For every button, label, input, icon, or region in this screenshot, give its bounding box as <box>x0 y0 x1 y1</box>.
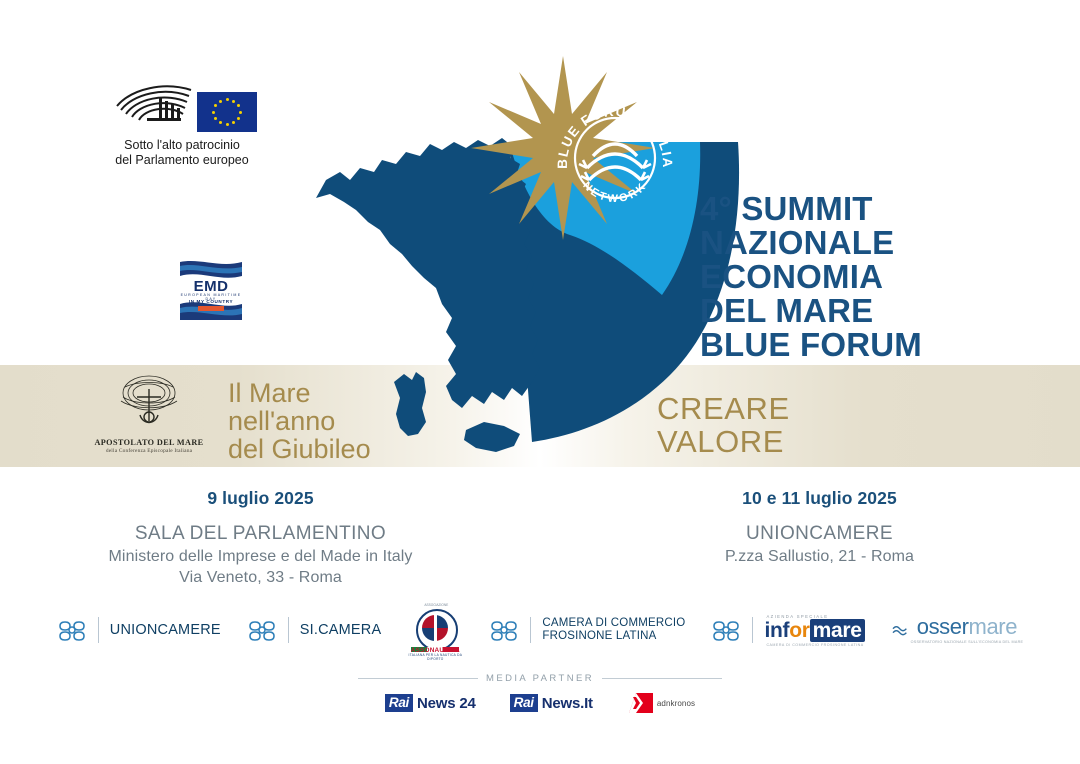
sponsor-infomare-label: informare <box>764 620 864 641</box>
infomare-bottom-label: CAMERA DI COMMERCIO FROSINONE LATINA <box>766 643 863 647</box>
european-parliament-patronage: Sotto l'alto patrocinio del Parlamento e… <box>82 82 282 167</box>
venue-2-line-2: P.zza Sallustio, 21 - Roma <box>559 548 1080 566</box>
claim-left-line-2: nell'anno <box>228 407 371 435</box>
media-logo-adnkronos: adnkronos <box>627 693 695 713</box>
claim-right: CREARE VALORE <box>657 392 790 458</box>
adnkronos-label: adnkronos <box>657 699 695 708</box>
patronage-line-2: del Parlamento europeo <box>82 153 282 168</box>
sponsor-camera-commercio: CAMERA DI COMMERCIO FROSINONE LATINA <box>489 603 685 657</box>
divider <box>752 617 753 643</box>
sponsor-unioncamere-label: UNIONCAMERE <box>110 622 221 638</box>
media-partner-logos: Rai News 24 Rai News.It adnkronos <box>0 693 1080 713</box>
claim-left-line-1: Il Mare <box>228 379 371 407</box>
sponsor-ossermare: ossermare OSSERVATORIO NAZIONALE SULL'EC… <box>891 603 1024 657</box>
rainews24-label: News 24 <box>417 695 476 712</box>
sponsor-infomare: AZIENDA SPECIALE informare CAMERA DI COM… <box>711 603 864 657</box>
ossermare-wave-icon <box>891 620 911 640</box>
divider <box>98 617 99 643</box>
emd-logo: EMD EUROPEAN MARITIME DAY IN MY COUNTRY <box>180 258 242 320</box>
media-partner-label: MEDIA PARTNER <box>486 673 594 684</box>
media-logo-rainewsit: Rai News.It <box>510 694 593 712</box>
apostolato-subtitle: della Conferenza Episcopale Italiana <box>88 448 210 454</box>
claim-right-line-1: CREARE <box>657 392 790 425</box>
adnkronos-mark-icon <box>627 693 653 713</box>
sponsor-sicamera-label: SI.CAMERA <box>300 622 382 638</box>
rule-right <box>602 678 722 679</box>
rainewsit-label: News.It <box>542 695 593 712</box>
assonautica-top-label: ASSOCIAZIONE <box>416 603 456 607</box>
divider <box>288 617 289 643</box>
unioncamere-knot-icon <box>57 616 87 644</box>
assonautica-emblem-icon: ASSOCIAZIONE ASSONAUTICA ITALIANA PER LA… <box>407 603 463 657</box>
unioncamere-knot-icon <box>489 616 519 644</box>
unioncamere-knot-icon <box>247 616 277 644</box>
apostolato-emblem-icon <box>109 371 189 431</box>
title-line-3: ECONOMIA <box>700 260 1000 294</box>
title-line-1: 4° SUMMIT <box>700 192 1000 226</box>
svg-text:®: ® <box>655 118 661 126</box>
patronage-line-1: Sotto l'alto patrocinio <box>82 138 282 153</box>
assonautica-sub-label: ITALIANA PER LA NAUTICA DA DIPORTO <box>407 653 463 661</box>
apostolato-name: APOSTOLATO DEL MARE <box>88 438 210 447</box>
venue-1-line-3: Via Veneto, 33 - Roma <box>0 569 521 587</box>
title-line-4: DEL MARE <box>700 294 1000 328</box>
venue-block-1: 9 luglio 2025 SALA DEL PARLAMENTINO Mini… <box>0 488 541 580</box>
parliament-arcs-icon <box>107 84 195 132</box>
media-partner-header: MEDIA PARTNER <box>0 673 1080 684</box>
sponsor-logos: UNIONCAMERE SI.CAMERA ASSOCIAZIONE <box>0 602 1080 658</box>
venue-1-line-2: Ministero delle Imprese e del Made in It… <box>0 548 521 566</box>
venue-block-2: 10 e 11 luglio 2025 UNIONCAMERE P.zza Sa… <box>541 488 1080 580</box>
apostolato-del-mare-logo: APOSTOLATO DEL MARE della Conferenza Epi… <box>88 371 210 454</box>
claim-right-line-2: VALORE <box>657 425 790 458</box>
sponsor-camera-line-2: FROSINONE LATINA <box>542 630 685 643</box>
ep-logo-mark <box>82 82 282 132</box>
media-logo-rainews24: Rai News 24 <box>385 694 476 712</box>
eu-flag-icon <box>197 92 257 132</box>
claim-left: Il Mare nell'anno del Giubileo <box>228 379 371 463</box>
poster: BLUE FORUM ITALIA NETWORK ® <box>0 0 1080 764</box>
emd-subtitle-2: IN MY COUNTRY <box>180 299 242 304</box>
sponsor-ossermare-label: ossermare <box>917 616 1017 638</box>
venue-blocks: 9 luglio 2025 SALA DEL PARLAMENTINO Mini… <box>0 488 1080 580</box>
sponsor-assonautica: ASSOCIAZIONE ASSONAUTICA ITALIANA PER LA… <box>407 603 463 657</box>
ossermare-bottom-label: OSSERVATORIO NAZIONALE SULL'ECONOMIA DEL… <box>911 640 1024 644</box>
claim-left-line-3: del Giubileo <box>228 435 371 463</box>
title-line-2: NAZIONALE <box>700 226 1000 260</box>
rule-left <box>358 678 478 679</box>
unioncamere-knot-icon <box>711 616 741 644</box>
rai-badge: Rai <box>385 694 413 712</box>
title-line-5: BLUE FORUM <box>700 328 1000 362</box>
venue-1-name: SALA DEL PARLAMENTINO <box>0 523 521 545</box>
sponsor-unioncamere: UNIONCAMERE <box>57 603 221 657</box>
sponsor-camera-line-1: CAMERA DI COMMERCIO <box>542 617 685 630</box>
venue-2-name: UNIONCAMERE <box>559 523 1080 545</box>
sponsor-sicamera: SI.CAMERA <box>247 603 382 657</box>
venue-2-date: 10 e 11 luglio 2025 <box>559 488 1080 509</box>
patronage-caption: Sotto l'alto patrocinio del Parlamento e… <box>82 138 282 167</box>
rai-badge: Rai <box>510 694 538 712</box>
venue-1-date: 9 luglio 2025 <box>0 488 521 509</box>
event-title: 4° SUMMIT NAZIONALE ECONOMIA DEL MARE BL… <box>700 192 1000 362</box>
media-partner-section: MEDIA PARTNER Rai News 24 Rai News.It ad… <box>0 673 1080 713</box>
divider <box>530 617 531 643</box>
